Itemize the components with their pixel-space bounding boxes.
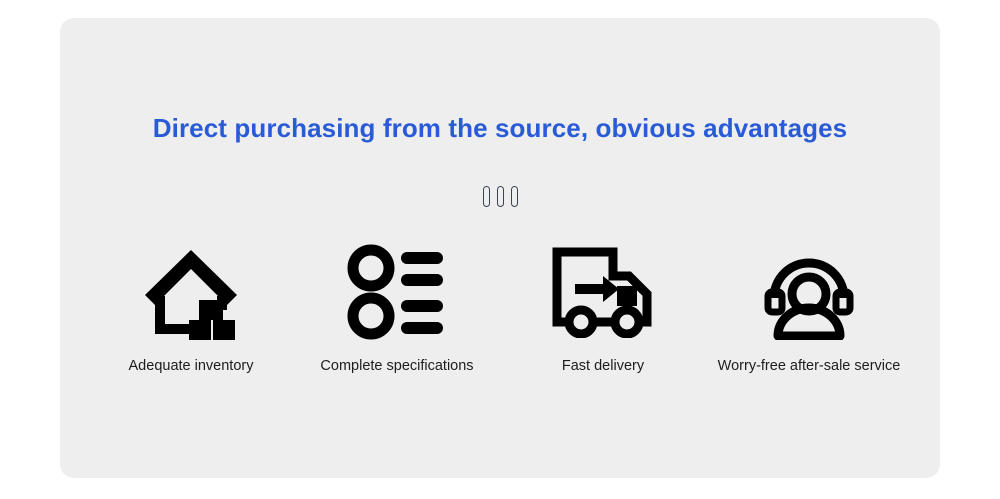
feature-label: Complete specifications — [320, 358, 473, 375]
features-row: Adequate inventory Complete specificatio… — [60, 240, 940, 375]
specifications-list-icon — [345, 240, 449, 344]
promo-banner: Direct purchasing from the source, obvio… — [0, 0, 1000, 499]
divider-pip-1 — [483, 186, 490, 207]
warehouse-house-icon — [139, 240, 243, 344]
feature-item-inventory: Adequate inventory — [88, 240, 294, 375]
page-title: Direct purchasing from the source, obvio… — [60, 113, 940, 144]
title-divider — [60, 186, 940, 207]
feature-item-after-sale: Worry-free after-sale service — [706, 240, 912, 375]
promo-card: Direct purchasing from the source, obvio… — [60, 18, 940, 478]
delivery-truck-icon — [551, 240, 655, 344]
feature-item-delivery: Fast delivery — [500, 240, 706, 375]
customer-support-headset-icon — [757, 240, 861, 344]
feature-label: Fast delivery — [562, 358, 644, 375]
divider-pip-2 — [497, 186, 504, 207]
feature-label: Adequate inventory — [129, 358, 254, 375]
divider-pip-3 — [511, 186, 518, 207]
feature-label: Worry-free after-sale service — [718, 358, 901, 375]
feature-item-specifications: Complete specifications — [294, 240, 500, 375]
